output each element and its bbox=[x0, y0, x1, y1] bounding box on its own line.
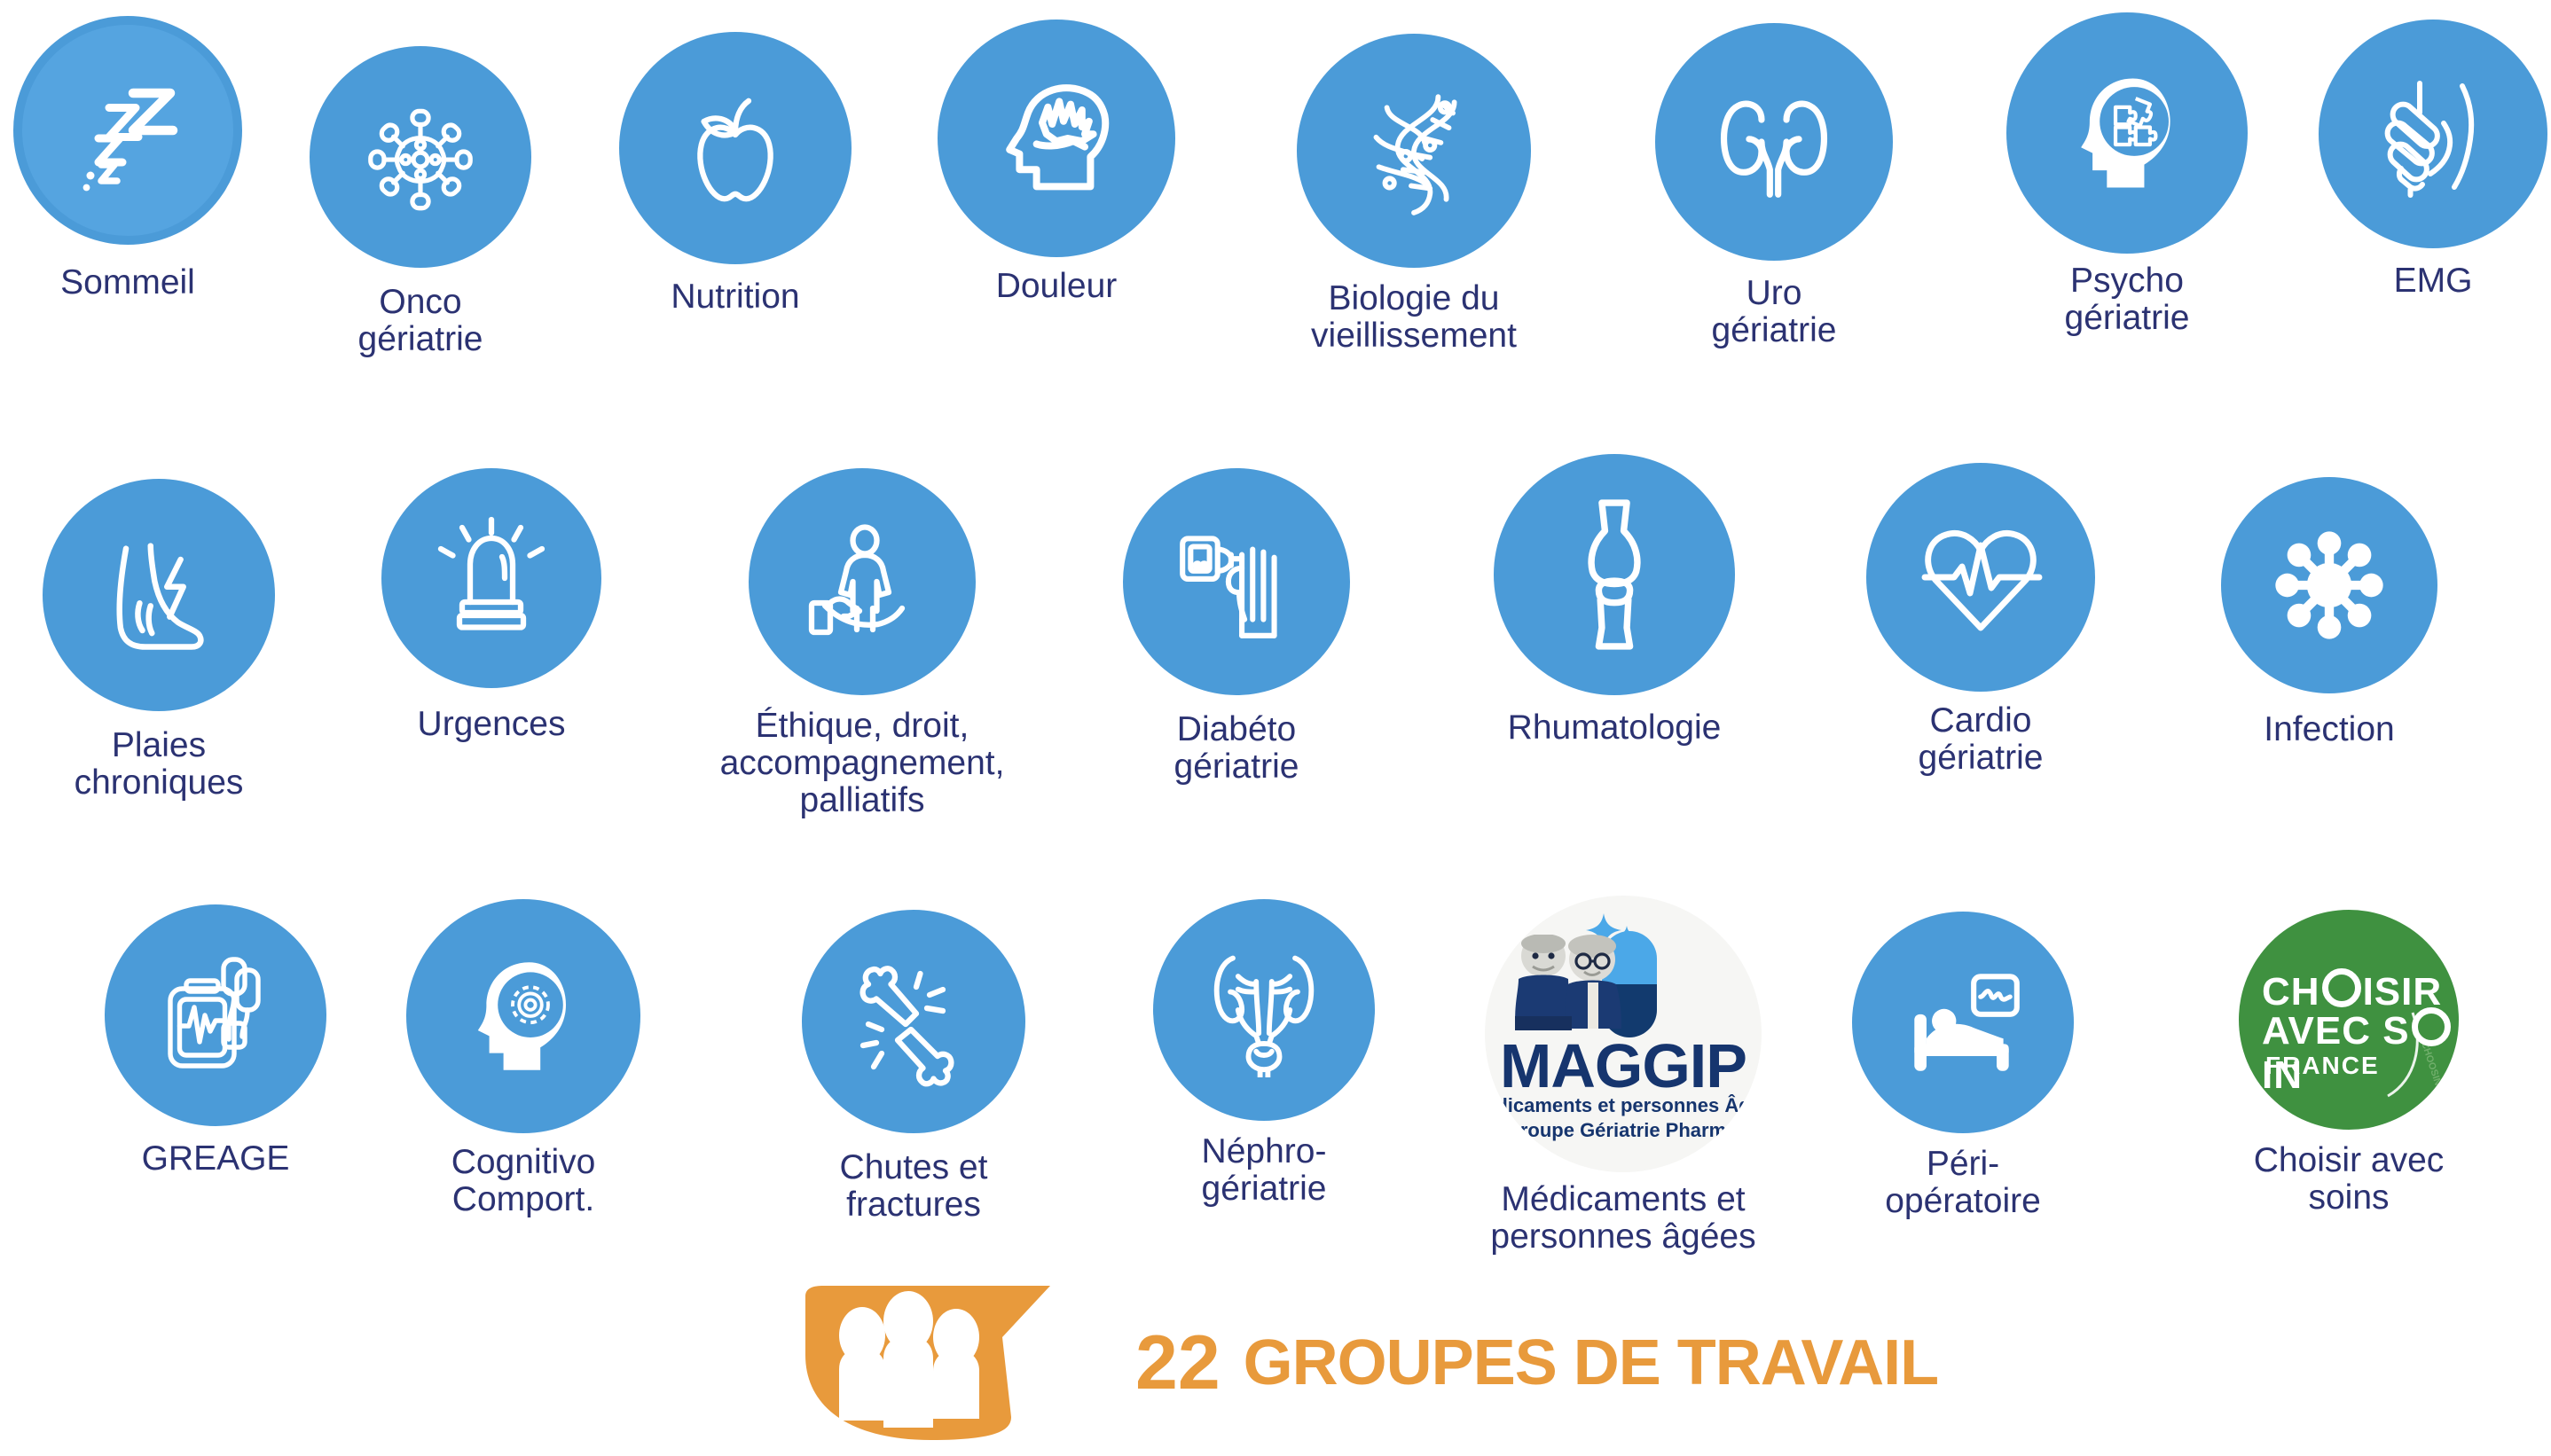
group-item-diabeto-geriatrie[interactable]: Diabéto gériatrie bbox=[1123, 468, 1350, 786]
group-label: Diabéto gériatrie bbox=[1174, 711, 1299, 786]
group-item-onco-geriatrie[interactable]: Onco gériatrie bbox=[309, 46, 532, 358]
group-label: Biologie du vieillissement bbox=[1311, 280, 1517, 355]
maggip-subtitle-line1: dicaments et personnes Âg bbox=[1485, 1094, 1762, 1117]
group-label: Nutrition bbox=[671, 278, 799, 316]
hospital-bed-monitor-icon bbox=[1852, 912, 2074, 1133]
dna-helix-icon bbox=[1297, 34, 1531, 268]
group-label: Uro gériatrie bbox=[1712, 275, 1837, 349]
three-people-group-icon bbox=[798, 1284, 1056, 1442]
group-item-cardio-geriatrie[interactable]: Cardio gériatrie bbox=[1866, 463, 2095, 777]
group-label: Médicaments et personnes âgées bbox=[1490, 1181, 1755, 1256]
group-label: Onco gériatrie bbox=[358, 284, 483, 358]
group-item-medicaments-personnes-agees[interactable]: MAGGIP dicaments et personnes Âg roupe G… bbox=[1472, 896, 1774, 1256]
group-item-biologie-du-vieillissement[interactable]: Biologie du vieillissement bbox=[1297, 34, 1531, 355]
glucometer-hand-icon bbox=[1123, 468, 1350, 695]
head-puzzle-icon bbox=[2006, 12, 2248, 254]
ecg-monitor-icon bbox=[105, 904, 326, 1126]
group-label: Néphro- gériatrie bbox=[1202, 1133, 1327, 1208]
maggip-logo: MAGGIP dicaments et personnes Âg roupe G… bbox=[1485, 896, 1762, 1172]
knee-joint-icon bbox=[1494, 454, 1735, 695]
cas-line3: FRANCE bbox=[2265, 1052, 2380, 1080]
group-label: Sommeil bbox=[60, 264, 195, 301]
group-label: Chutes et fractures bbox=[795, 1149, 1032, 1224]
footer-banner: 22 GROUPES DE TRAVAIL bbox=[798, 1284, 1938, 1442]
maggip-subtitle-line2: roupe Gériatrie Pharm bbox=[1485, 1119, 1762, 1142]
group-label: Rhumatologie bbox=[1508, 709, 1722, 747]
helping-hands-icon bbox=[2319, 20, 2547, 248]
group-label: Choisir avec soins bbox=[2254, 1142, 2445, 1217]
group-label: Infection bbox=[2264, 711, 2394, 748]
choisir-avec-soin-logo: CHOOSING WISELY CHISIR AVEC SIN FRANCE bbox=[2239, 910, 2459, 1130]
group-label: EMG bbox=[2394, 262, 2473, 300]
group-label: Péri- opératoire bbox=[1885, 1146, 2041, 1220]
hand-person-icon bbox=[749, 468, 976, 695]
group-item-psycho-geriatrie[interactable]: Psycho gériatrie bbox=[2006, 12, 2248, 337]
group-item-peri-operatoire[interactable]: Péri- opératoire bbox=[1852, 912, 2074, 1220]
head-gear-icon bbox=[406, 899, 640, 1133]
group-item-uro-geriatrie[interactable]: Uro gériatrie bbox=[1655, 23, 1893, 349]
group-item-chutes-et-fractures[interactable]: Chutes et fractures bbox=[795, 910, 1032, 1224]
group-label: Cognitivo Comport. bbox=[451, 1144, 596, 1218]
group-item-choisir-avec-soins[interactable]: CHOOSING WISELY CHISIR AVEC SIN FRANCE C… bbox=[2235, 910, 2462, 1217]
sleep-zzz-icon bbox=[13, 16, 242, 245]
urinary-tract-icon bbox=[1153, 899, 1375, 1121]
groups-poster: Sommeil bbox=[0, 0, 2551, 1456]
group-item-greage[interactable]: GREAGE bbox=[105, 904, 326, 1178]
group-item-cognitivo-comport[interactable]: Cognitivo Comport. bbox=[406, 899, 640, 1218]
microbe-icon bbox=[2221, 477, 2437, 693]
head-pain-icon bbox=[938, 20, 1175, 257]
virus-cell-icon bbox=[310, 46, 531, 268]
broken-bone-icon bbox=[802, 910, 1025, 1133]
group-label: Cardio gériatrie bbox=[1919, 702, 2044, 777]
group-item-douleur[interactable]: Douleur bbox=[938, 20, 1175, 305]
group-item-plaies-chroniques[interactable]: Plaies chroniques bbox=[43, 479, 275, 802]
group-item-rhumatologie[interactable]: Rhumatologie bbox=[1494, 454, 1735, 747]
group-item-urgences[interactable]: Urgences bbox=[381, 468, 601, 743]
kidneys-icon bbox=[1655, 23, 1893, 261]
group-label: Urgences bbox=[418, 706, 566, 743]
group-item-ethique-droit[interactable]: Éthique, droit, accompagnement, palliati… bbox=[738, 468, 986, 819]
heart-pulse-icon bbox=[1866, 463, 2095, 692]
group-item-emg[interactable]: EMG bbox=[2319, 20, 2547, 300]
footer-count: 22 bbox=[1135, 1319, 1221, 1407]
group-item-infection[interactable]: Infection bbox=[2221, 477, 2437, 748]
group-label: Éthique, droit, accompagnement, palliati… bbox=[720, 708, 1005, 819]
group-label: Douleur bbox=[996, 268, 1118, 305]
group-item-nephro-geriatrie[interactable]: Néphro- gériatrie bbox=[1153, 899, 1375, 1208]
footer-text: GROUPES DE TRAVAIL bbox=[1244, 1327, 1938, 1399]
maggip-wordmark: MAGGIP bbox=[1485, 1030, 1762, 1101]
group-item-nutrition[interactable]: Nutrition bbox=[619, 32, 852, 316]
group-label: GREAGE bbox=[142, 1140, 290, 1178]
emergency-siren-icon bbox=[381, 468, 601, 688]
foot-wound-icon bbox=[43, 479, 275, 711]
apple-icon bbox=[619, 32, 852, 264]
group-label: Plaies chroniques bbox=[43, 727, 275, 802]
group-label: Psycho gériatrie bbox=[2065, 262, 2190, 337]
group-item-sommeil[interactable]: Sommeil bbox=[12, 16, 243, 301]
